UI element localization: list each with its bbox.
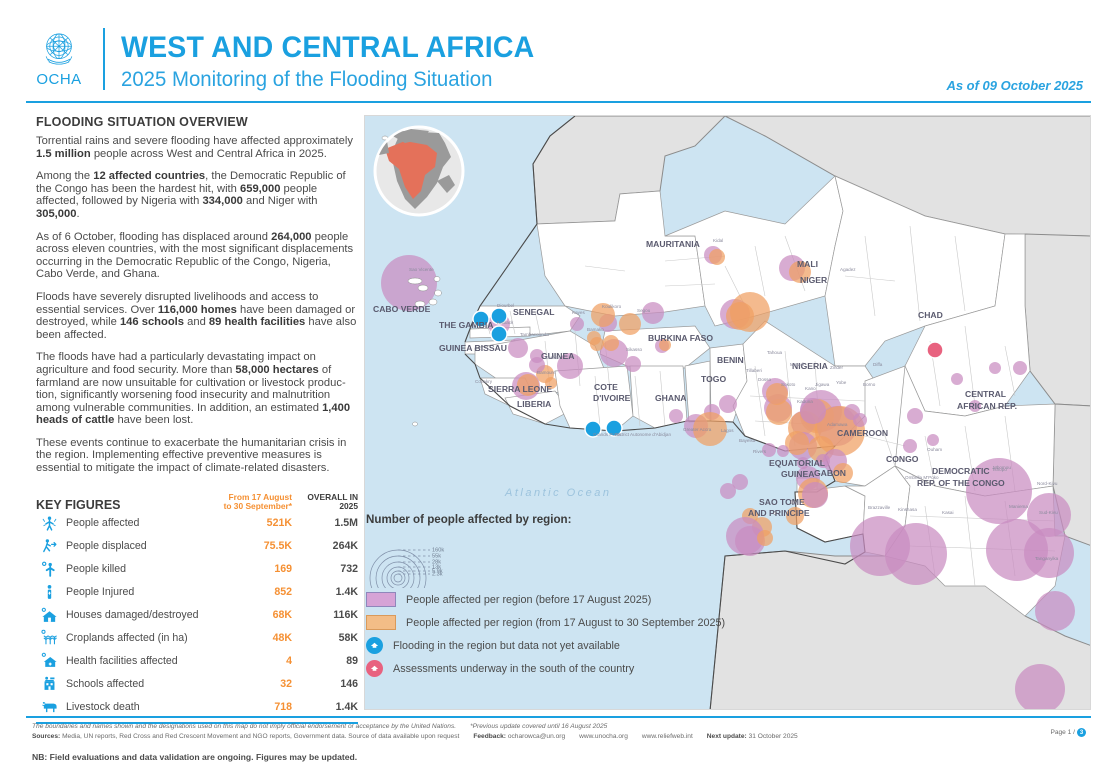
house-damaged-icon <box>36 607 62 624</box>
key-figures-section: KEY FIGURES From 17 Augustto 30 Septembe… <box>36 486 358 724</box>
country-label: CHAD <box>918 310 943 320</box>
feedback-email[interactable]: ocharowca@un.org <box>508 733 565 740</box>
city-label: Kayes <box>572 310 585 315</box>
city-label: Sokoto <box>781 382 796 387</box>
city-label: Kaduna <box>797 399 813 404</box>
city-label: Brazzaville <box>868 505 891 510</box>
city-label: Greater Accra <box>683 427 712 432</box>
overview-paragraph: Floods have severely disrupted livelihoo… <box>36 291 358 341</box>
legend-color-swatch <box>366 615 396 630</box>
key-figure-recent-value: 32 <box>200 678 292 690</box>
overview-title: FLOODING SITUATION OVERVIEW <box>36 115 358 129</box>
people-affected-icon <box>36 515 62 532</box>
overview-paragraphs: Torrential rains and severe flooding hav… <box>36 135 358 475</box>
key-figure-label: Schools affected <box>62 678 200 690</box>
country-label: TOGO <box>701 374 726 384</box>
legend-item-label: Flooding in the region but data not yet … <box>393 640 620 652</box>
people-displaced-icon <box>36 538 62 555</box>
scale-label: 2.3k <box>432 572 443 578</box>
reliefweb-link[interactable]: www.reliefweb.int <box>642 733 693 740</box>
city-label: Sao Vicente <box>409 267 434 272</box>
key-figure-label: Croplands affected (in ha) <box>62 632 200 644</box>
infographic-page: OCHA WEST AND CENTRAL AFRICA 2025 Monito… <box>0 0 1117 784</box>
city-label: Bamako <box>587 327 604 332</box>
country-label: MALI <box>797 259 818 269</box>
legend-item: Assessments underway in the south of the… <box>366 657 796 680</box>
sources-label: Sources: <box>32 733 60 740</box>
city-label: Kaolack <box>497 320 514 325</box>
city-label: Ombella M'Poko <box>905 475 939 480</box>
key-figure-row: Health facilities affected489 <box>36 649 358 672</box>
unocha-link[interactable]: www.unocha.org <box>579 733 628 740</box>
key-figure-recent-value: 48K <box>200 632 292 644</box>
health-facility-icon <box>36 652 62 669</box>
legend-item-label: People affected per region (from 17 Augu… <box>406 617 725 629</box>
people-injured-icon <box>36 584 62 601</box>
overview-paragraph: As of 6 October, flooding has displaced … <box>36 231 358 281</box>
page-subtitle: 2025 Monitoring of the Flooding Situatio… <box>121 68 492 92</box>
legend-color-swatch <box>366 592 396 607</box>
country-label: MAURITANIA <box>646 239 700 249</box>
key-figure-label: People Injured <box>62 586 200 598</box>
feedback-label: Feedback: <box>473 733 506 740</box>
page-indicator: Page 1 / 3 <box>1050 728 1086 737</box>
column-header-overall: OVERALL IN2025 <box>292 493 358 512</box>
country-label: CONGO <box>886 454 919 464</box>
city-label: Maniema <box>1009 504 1028 509</box>
footer-rule <box>26 716 1091 718</box>
overview-paragraph: These events continue to exacerbate the … <box>36 437 358 475</box>
key-figures-header: KEY FIGURES From 17 Augustto 30 Septembe… <box>36 486 358 512</box>
legend-item: Flooding in the region but data not yet … <box>366 634 796 657</box>
city-label: Adamawa <box>827 422 848 427</box>
city-label: Kasai <box>942 510 954 515</box>
overview-paragraph: Among the 12 affected countries, the Dem… <box>36 170 358 220</box>
country-label: EQUATORIAL <box>769 458 825 468</box>
key-figure-overall-value: 1.5M <box>292 517 358 529</box>
key-figure-recent-value: 68K <box>200 609 292 621</box>
city-label: Tillaberi <box>746 368 762 373</box>
city-label: Nord-Kivu <box>1037 481 1058 486</box>
bubble-size-scale: 160k55k28k13k5.9k2.3k <box>368 530 568 588</box>
ocean-label: Atlantic Ocean <box>504 487 612 499</box>
key-figure-row: People displaced75.5K264K <box>36 535 358 558</box>
country-label: CAMEROON <box>837 428 888 438</box>
footer-sources-line: Sources: Media, UN reports, Red Cross an… <box>32 732 1092 742</box>
footer-note: NB: Field evaluations and data validatio… <box>32 752 1092 762</box>
legend-item-label: Assessments underway in the south of the… <box>393 663 634 675</box>
country-label: CENTRAL <box>965 389 1006 399</box>
country-label: LIBERIA <box>517 399 551 409</box>
school-icon <box>36 675 62 692</box>
as-of-date: As of 09 October 2025 <box>946 78 1083 93</box>
city-label: Conakry <box>475 379 493 384</box>
city-label: Tambacounda <box>520 332 549 337</box>
city-label: Segou <box>637 308 651 313</box>
city-label: Yobe <box>836 380 847 385</box>
city-label: Bayelsa <box>739 438 756 443</box>
legend-title: Number of people affected by region: <box>366 513 796 526</box>
legend-marker-icon <box>366 660 383 677</box>
key-figure-label: People killed <box>62 563 200 575</box>
key-figure-overall-value: 89 <box>292 655 358 667</box>
overview-column: FLOODING SITUATION OVERVIEW Torrential r… <box>36 115 358 485</box>
city-label: Kinshasa <box>898 507 917 512</box>
country-label: DEMOCRATIC <box>932 466 990 476</box>
country-label: SAO TOME <box>759 497 805 507</box>
key-figure-recent-value: 169 <box>200 563 292 575</box>
city-label: Diffa <box>873 362 883 367</box>
key-figure-label: Houses damaged/destroyed <box>62 609 200 621</box>
overview-paragraph: The floods have had a particularly devas… <box>36 351 358 427</box>
key-figure-recent-value: 852 <box>200 586 292 598</box>
city-label: Diourbel <box>497 303 514 308</box>
ocha-wordmark: OCHA <box>36 71 81 88</box>
key-figures-rows: People affected521K1.5MPeople displaced7… <box>36 512 358 718</box>
country-label: COTE <box>594 382 618 392</box>
page-label: Page 1 / <box>1050 729 1075 736</box>
city-label: Bamoure <box>537 370 556 375</box>
key-figure-row: Livestock death7181.4K <box>36 695 358 718</box>
column-header-recent: From 17 Augustto 30 September* <box>200 493 292 512</box>
page-title: WEST AND CENTRAL AFRICA <box>121 31 534 65</box>
key-figure-overall-value: 264K <box>292 540 358 552</box>
un-ocha-logo: OCHA <box>26 26 92 88</box>
city-label: Dosso <box>758 377 771 382</box>
key-figure-overall-value: 146 <box>292 678 358 690</box>
key-figure-label: People displaced <box>62 540 200 552</box>
city-label: Borno <box>863 382 876 387</box>
city-label: Jigawa <box>815 382 830 387</box>
country-label: NIGER <box>800 275 828 285</box>
key-figure-row: People affected521K1.5M <box>36 512 358 535</box>
city-label: Agadez <box>840 267 856 272</box>
city-label: Ouham <box>927 447 942 452</box>
city-label: Kankan <box>545 355 561 360</box>
city-label: Tanganyika <box>1035 556 1059 561</box>
city-label: Mbomou <box>993 465 1011 470</box>
country-label: SIERRA LEONE <box>488 384 552 394</box>
city-label: Sikasso <box>626 347 643 352</box>
city-label: Koulikoro <box>602 304 622 309</box>
city-label: Tahoua <box>767 350 783 355</box>
city-label: Rivers <box>753 449 767 454</box>
sources-text: Media, UN reports, Red Cross and Red Cre… <box>62 733 459 740</box>
key-figure-label: Health facilities affected <box>62 655 200 667</box>
country-label: GABON <box>814 468 846 478</box>
legend-item-label: People affected per region (before 17 Au… <box>406 594 651 606</box>
country-label: GHANA <box>655 393 687 403</box>
country-label: CABO VERDE <box>373 304 431 314</box>
legend-marker-icon <box>366 637 383 654</box>
key-figure-row: People Injured8521.4K <box>36 581 358 604</box>
people-killed-icon <box>36 561 62 578</box>
key-figure-label: People affected <box>62 517 200 529</box>
map-legend: Number of people affected by region: <box>366 513 796 680</box>
key-figure-recent-value: 718 <box>200 701 292 713</box>
header-divider <box>103 28 105 90</box>
key-figure-overall-value: 116K <box>292 609 358 621</box>
key-figure-overall-value: 1.4K <box>292 586 358 598</box>
key-figure-overall-value: 732 <box>292 563 358 575</box>
key-figure-row: People killed169732 <box>36 558 358 581</box>
country-label: THE GAMBIA <box>439 320 493 330</box>
city-label: District Autonome d'Abidjan <box>615 432 671 437</box>
country-label: D'IVOIRE <box>593 393 631 403</box>
legend-item: People affected per region (before 17 Au… <box>366 588 796 611</box>
city-label: Maradi <box>790 362 804 367</box>
un-emblem-icon <box>36 26 82 72</box>
key-figure-row: Croplands affected (in ha)48K58K <box>36 626 358 649</box>
key-figure-overall-value: 1.4K <box>292 701 358 713</box>
page-header: OCHA WEST AND CENTRAL AFRICA 2025 Monito… <box>0 0 1117 104</box>
page-footer: The boundaries and names shown and the d… <box>32 722 1092 762</box>
key-figure-row: Schools affected32146 <box>36 672 358 695</box>
key-figures-title: KEY FIGURES <box>36 498 200 512</box>
key-figure-label: Livestock death <box>62 701 200 713</box>
key-figure-recent-value: 521K <box>200 517 292 529</box>
disclaimer-text: The boundaries and names shown and the d… <box>32 723 456 730</box>
city-label: Zinder <box>830 365 843 370</box>
legend-item: People affected per region (from 17 Augu… <box>366 611 796 634</box>
city-label: Sud-Kivu <box>1039 510 1058 515</box>
country-label: AFRICAN REP. <box>957 401 1017 411</box>
key-figure-recent-value: 75.5K <box>200 540 292 552</box>
footer-disclaimer-line: The boundaries and names shown and the d… <box>32 722 1092 732</box>
overview-paragraph: Torrential rains and severe flooding hav… <box>36 135 358 160</box>
key-figure-recent-value: 4 <box>200 655 292 667</box>
previous-update-note: *Previous update covered until 16 August… <box>470 723 607 730</box>
country-label: SENEGAL <box>513 307 555 317</box>
country-label: BURKINA FASO <box>648 333 713 343</box>
country-label: BENIN <box>717 355 744 365</box>
livestock-icon <box>36 698 62 715</box>
page-total: 3 <box>1077 728 1086 737</box>
country-label: GUINEA BISSAU <box>439 343 507 353</box>
cropland-icon <box>36 629 62 646</box>
next-update-date: 31 October 2025 <box>749 733 798 740</box>
next-update-label: Next update: <box>707 733 747 740</box>
header-rule <box>26 101 1091 103</box>
globe-locator-inset <box>371 123 467 219</box>
key-figure-overall-value: 58K <box>292 632 358 644</box>
country-label: GUINEA <box>781 469 814 479</box>
city-label: Kidal <box>713 238 723 243</box>
legend-items: People affected per region (before 17 Au… <box>366 588 796 680</box>
key-figure-row: Houses damaged/destroyed68K116K <box>36 604 358 627</box>
city-label: Lagos <box>721 428 734 433</box>
